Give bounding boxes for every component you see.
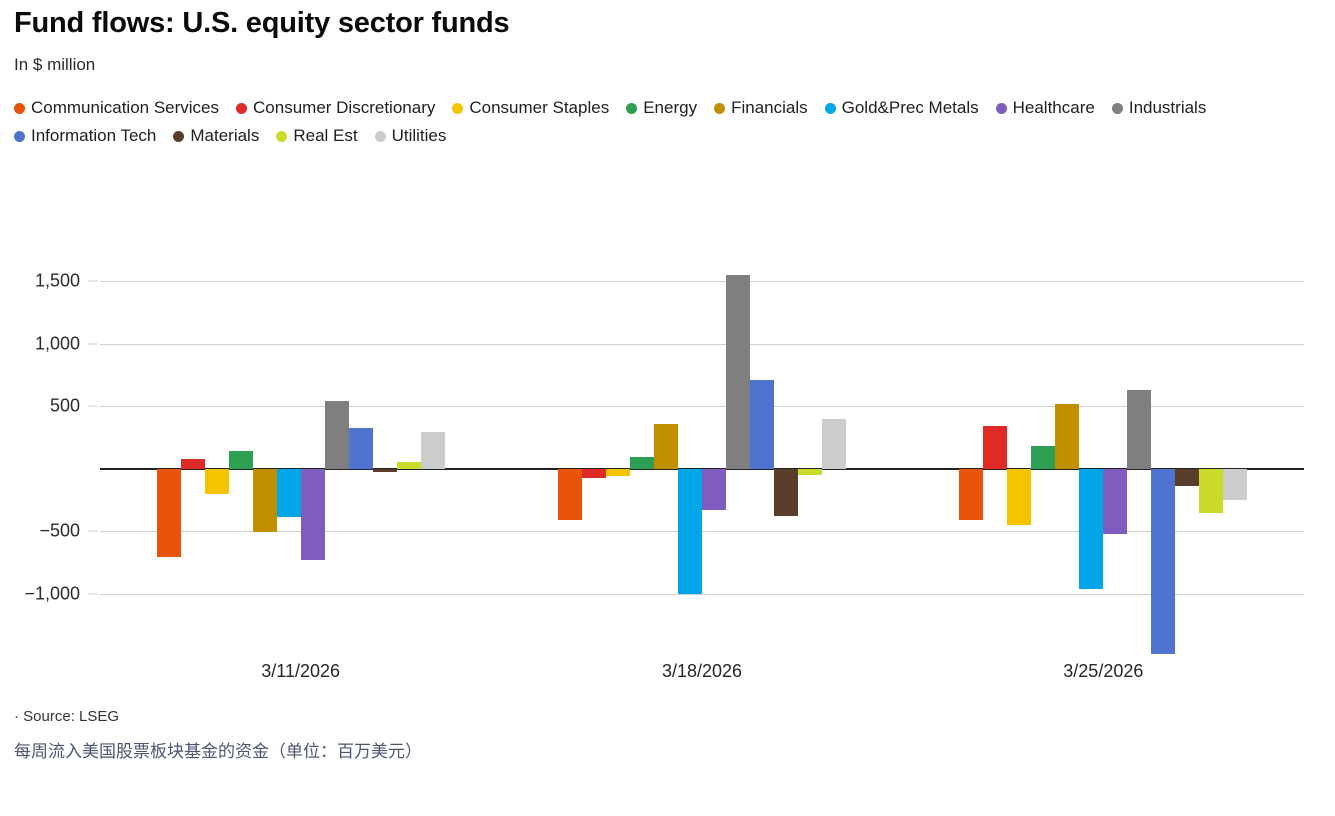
legend-item-label: Financials [731,98,808,118]
legend-swatch-icon [1112,103,1123,114]
legend-item-label: Utilities [392,126,447,146]
legend-item-label: Materials [190,126,259,146]
x-axis-tick-label: 3/25/2026 [1063,661,1143,682]
legend-item[interactable]: Consumer Discretionary [236,98,435,118]
legend-swatch-icon [236,103,247,114]
legend-item[interactable]: Gold&Prec Metals [825,98,979,118]
y-axis-tick-label: 1,000 [0,333,80,354]
bar[interactable] [205,469,229,494]
y-axis-tick-label: −500 [0,521,80,542]
bar[interactable] [157,469,181,557]
legend-swatch-icon [626,103,637,114]
legend-item[interactable]: Consumer Staples [452,98,609,118]
bar[interactable] [959,469,983,521]
bar[interactable] [822,419,846,469]
bar[interactable] [373,469,397,473]
bar[interactable] [325,401,349,469]
legend-item[interactable]: Utilities [375,126,447,146]
bar[interactable] [1223,469,1247,501]
legend-swatch-icon [173,131,184,142]
legend-item[interactable]: Financials [714,98,808,118]
y-axis-tick-label: 1,500 [0,271,80,292]
x-axis-tick-label: 3/11/2026 [261,661,340,682]
legend-item-label: Gold&Prec Metals [842,98,979,118]
page-title: Fund flows: U.S. equity sector funds [14,6,1321,40]
legend-swatch-icon [825,103,836,114]
bar[interactable] [654,424,678,468]
bar[interactable] [301,469,325,560]
bar[interactable] [606,469,630,477]
bar-group [558,256,846,656]
legend-item-label: Healthcare [1013,98,1095,118]
y-axis-tick-mark [88,593,98,594]
legend-item-label: Energy [643,98,697,118]
bar[interactable] [1007,469,1031,525]
y-axis-tick-mark [88,281,98,282]
legend-item[interactable]: Materials [173,126,259,146]
chart-legend: Communication ServicesConsumer Discretio… [14,98,1304,146]
bar[interactable] [229,451,253,469]
y-axis-tick-label: −1,000 [0,583,80,604]
chart-footer: · Source: LSEG 每周流入美国股票板块基金的资金（单位：百万美元） [14,706,1314,766]
plot-area: 1,5001,000500−500−1,0003/11/20263/18/202… [14,256,1314,656]
legend-item[interactable]: Communication Services [14,98,219,118]
legend-item[interactable]: Healthcare [996,98,1095,118]
y-axis-tick-mark [88,406,98,407]
bar-group [959,256,1247,656]
bar[interactable] [558,469,582,521]
bar[interactable] [1103,469,1127,534]
y-axis-tick-mark [88,531,98,532]
legend-item[interactable]: Information Tech [14,126,156,146]
legend-swatch-icon [375,131,386,142]
bar[interactable] [421,432,445,469]
bar[interactable] [1055,404,1079,469]
legend-item-label: Real Est [293,126,357,146]
legend-item-label: Communication Services [31,98,219,118]
legend-item-label: Consumer Discretionary [253,98,435,118]
plot-canvas: 1,5001,000500−500−1,0003/11/20263/18/202… [100,256,1304,656]
legend-item[interactable]: Energy [626,98,697,118]
bar[interactable] [349,428,373,469]
legend-item-label: Information Tech [31,126,156,146]
bar[interactable] [1127,390,1151,469]
chart-page: Fund flows: U.S. equity sector funds In … [0,6,1335,816]
y-axis-tick-mark [88,343,98,344]
x-axis-tick-label: 3/18/2026 [662,661,742,682]
legend-item-label: Consumer Staples [469,98,609,118]
bar[interactable] [582,469,606,478]
chart-subtitle: In $ million [14,54,1321,76]
bar-group [157,256,445,656]
bar[interactable] [630,457,654,468]
bar[interactable] [750,380,774,469]
legend-swatch-icon [276,131,287,142]
bar[interactable] [1175,469,1199,487]
y-axis-tick-label: 500 [0,396,80,417]
legend-swatch-icon [996,103,1007,114]
legend-item-label: Industrials [1129,98,1206,118]
bar[interactable] [1031,446,1055,469]
bar[interactable] [678,469,702,594]
bar[interactable] [181,459,205,468]
bar[interactable] [397,462,421,468]
legend-item[interactable]: Real Est [276,126,357,146]
legend-swatch-icon [14,131,25,142]
bar[interactable] [1079,469,1103,589]
bar[interactable] [277,469,301,517]
bar[interactable] [726,275,750,468]
legend-swatch-icon [714,103,725,114]
source-note: · Source: LSEG [14,706,1314,728]
legend-swatch-icon [14,103,25,114]
bar[interactable] [774,469,798,517]
bar[interactable] [702,469,726,510]
bar[interactable] [1199,469,1223,513]
bar[interactable] [983,426,1007,469]
legend-item[interactable]: Industrials [1112,98,1206,118]
bar[interactable] [1151,469,1175,654]
bar[interactable] [253,469,277,533]
caption-chinese: 每周流入美国股票板块基金的资金（单位：百万美元） [14,738,1314,766]
bar[interactable] [798,469,822,476]
legend-swatch-icon [452,103,463,114]
